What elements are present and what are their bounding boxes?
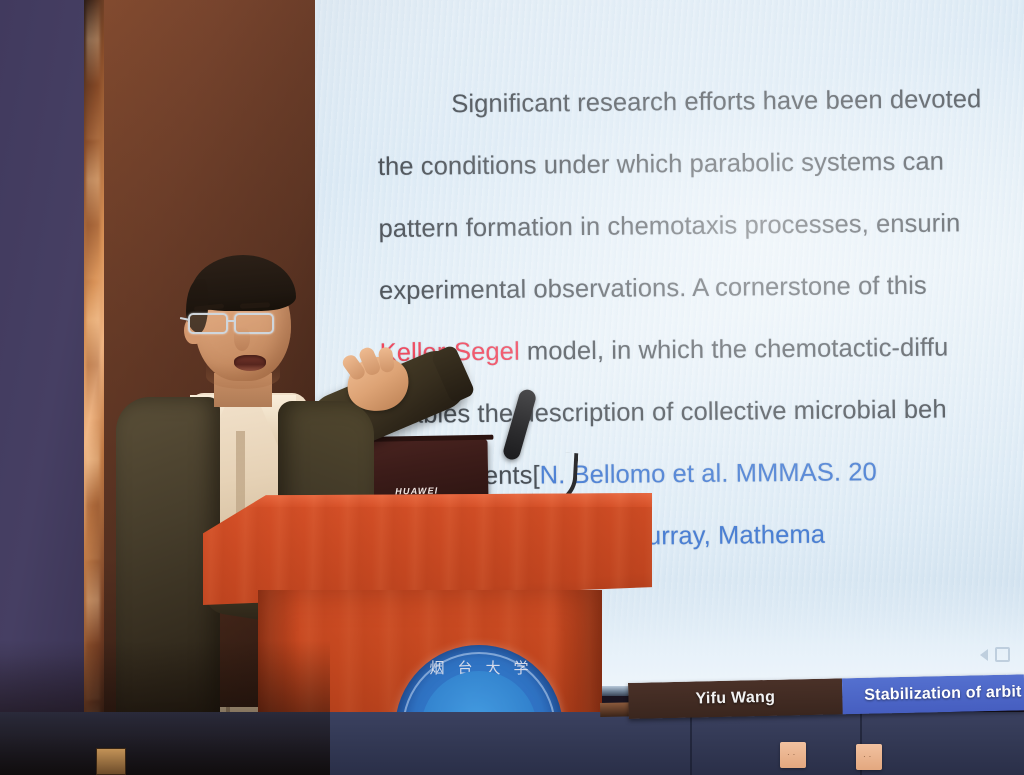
talk-title: Stabilization of arbit [864,683,1022,704]
podium-wood-grain [203,493,652,605]
prev-page-arrow-icon[interactable] [980,649,988,661]
lens-left [188,313,228,334]
floor-object [96,748,126,775]
nose [234,327,250,351]
outlet-slots: ·· [863,752,875,761]
glasses-bridge [228,320,236,322]
speaker-name: Yifu Wang [695,689,775,709]
outlet-slots: ·· [787,750,799,759]
foreground-shadow [0,640,330,775]
wall-seam-1 [690,712,692,775]
wall-outlet-2: ·· [856,744,882,770]
banner-title-panel: Stabilization of arbit [842,674,1024,714]
page-indicator-box-icon[interactable] [995,647,1010,662]
banner-name-panel: Yifu Wang [628,678,843,719]
wall-outlet-1: ·· [780,742,806,768]
pdf-viewer-controls[interactable] [980,647,1010,662]
podium-top [203,493,652,605]
conference-photo-scene: Significant research efforts have been d… [0,0,1024,775]
finger-3 [378,346,395,373]
chin [206,363,280,389]
